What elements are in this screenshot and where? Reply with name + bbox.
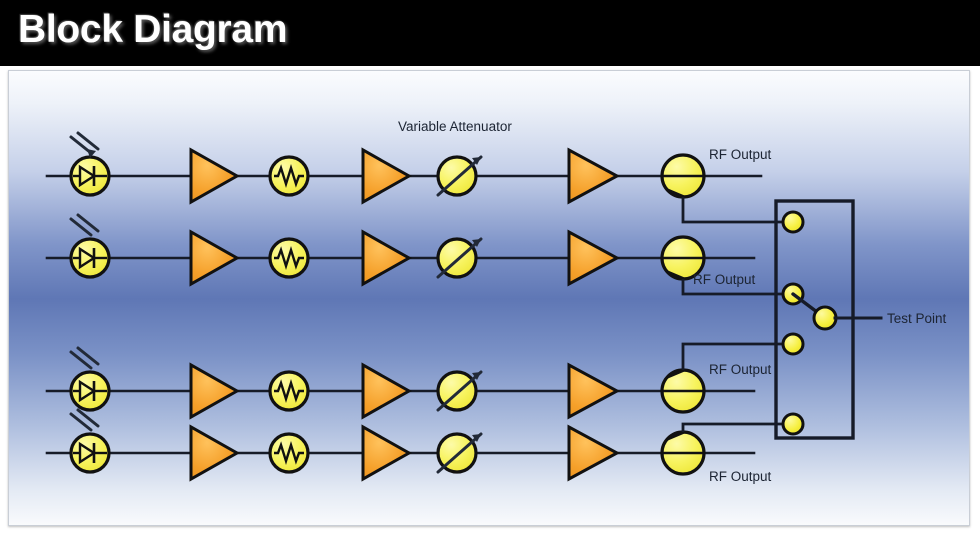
filter-icon-1 (270, 157, 308, 195)
rf-output-label-4: RF Output (709, 469, 772, 484)
block-diagram-panel: RF Output (8, 70, 970, 526)
test-point-label: Test Point (887, 311, 947, 326)
rf-output-label-1: RF Output (709, 147, 772, 162)
diagram-background (9, 71, 970, 526)
title-bar: Block Diagram (0, 0, 980, 66)
filter-icon-2 (270, 239, 308, 277)
block-diagram-canvas: RF Output (9, 71, 970, 526)
variable-attenuator-label: Variable Attenuator (398, 119, 512, 134)
directional-coupler-icon-3 (662, 370, 704, 412)
rf-output-label-2: RF Output (693, 272, 756, 287)
switch-pole[interactable] (814, 307, 836, 329)
switch-contact-4[interactable] (783, 414, 803, 434)
directional-coupler-icon-4 (662, 432, 704, 474)
switch-contact-3[interactable] (783, 334, 803, 354)
filter-icon-3 (270, 372, 308, 410)
filter-icon-4 (270, 434, 308, 472)
directional-coupler-icon-1 (662, 155, 704, 197)
screenshot-root: Block Diagram (0, 0, 980, 535)
switch-contact-1[interactable] (783, 212, 803, 232)
rf-output-label-3: RF Output (709, 362, 772, 377)
page-title: Block Diagram (18, 8, 287, 52)
